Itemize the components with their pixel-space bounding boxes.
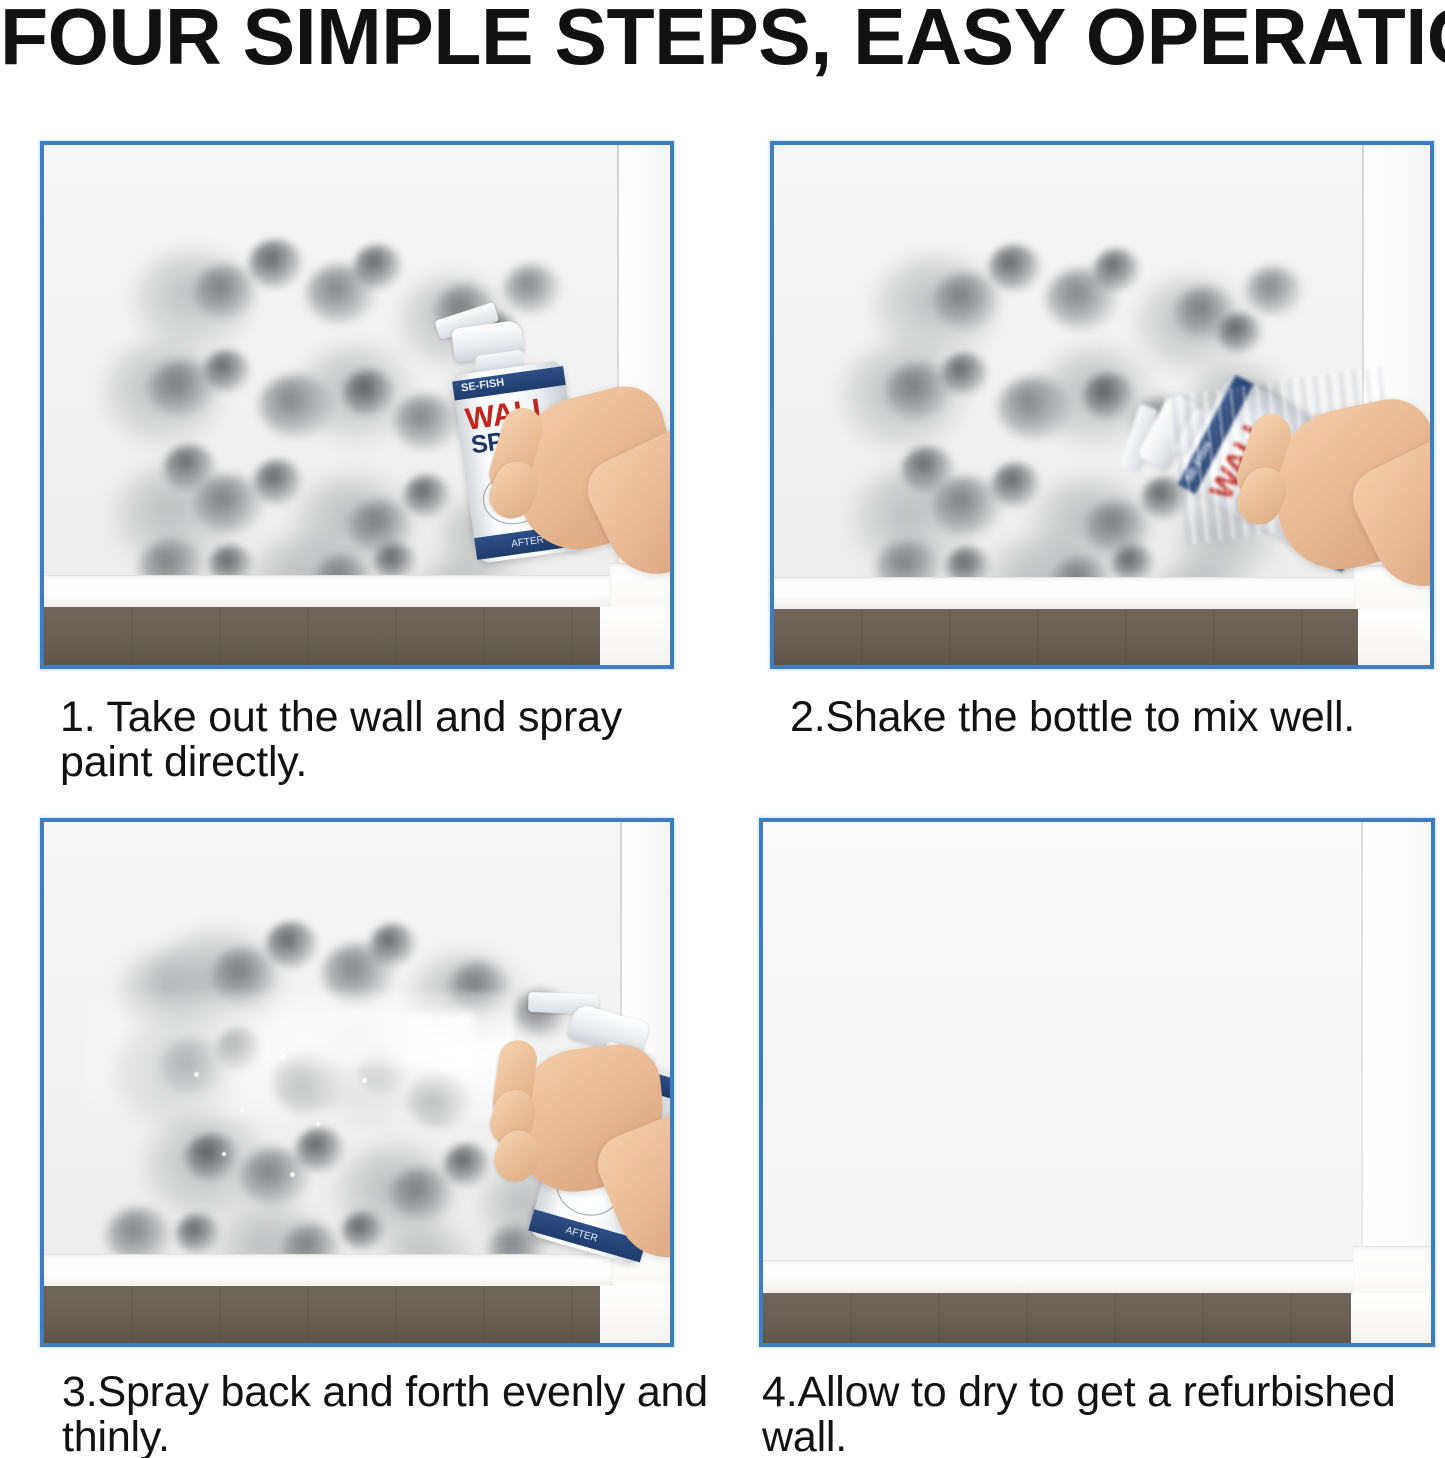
floor-corner-wedge [600,1286,670,1343]
step-1-image: SE-FISH WALL SPRAY AFTER [40,141,674,669]
spray-droplet [290,1172,295,1177]
floor-corner-wedge [600,607,670,665]
scene-spraying-wall: SE-FISH WALL SPRAY AFTER [44,822,670,1343]
step-3-caption: 3.Spray back and forth evenly and thinly… [62,1370,742,1458]
wood-floor [774,609,1364,665]
step-2-caption: 2.Shake the bottle to mix well. [790,695,1445,740]
wood-floor [44,607,608,665]
step-4-caption: 4.Allow to dry to get a refurbished wall… [762,1370,1445,1458]
page-title: FOUR SIMPLE STEPS, EASY OPERATION [0,0,1423,80]
scene-moldy-wall-with-bottle: SE-FISH WALL SPRAY AFTER [44,145,670,665]
spray-droplet [280,1054,286,1060]
floor-corner-wedge [1358,609,1430,665]
scene-shaking-bottle: SE-FISH WALL SPRAY AFTER [774,145,1430,665]
wood-floor [44,1286,610,1343]
wood-floor [763,1293,1357,1343]
scene-clean-white-wall [763,822,1431,1343]
spray-droplet [362,1078,367,1083]
spray-mist-edge [104,1012,474,1066]
instruction-infographic: FOUR SIMPLE STEPS, EASY OPERATION [0,0,1445,1458]
spray-droplet [194,1072,199,1077]
step-1-caption: 1. Take out the wall and spray paint dir… [60,695,720,785]
spray-droplet [316,1122,320,1126]
step-3-image: SE-FISH WALL SPRAY AFTER [40,818,674,1347]
floor-corner-wedge [1351,1293,1431,1343]
spray-droplet [240,1108,244,1112]
step-2-image: SE-FISH WALL SPRAY AFTER [770,141,1434,669]
step-4-image [759,818,1435,1347]
spray-droplet [222,1152,226,1156]
